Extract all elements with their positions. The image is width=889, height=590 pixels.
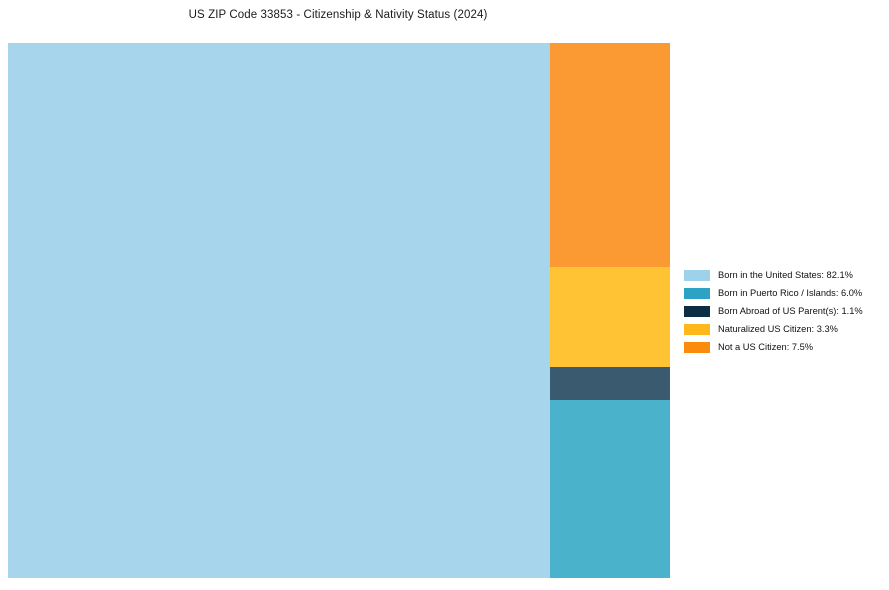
- legend-item-naturalized-us-citizen[interactable]: Naturalized US Citizen: 3.3%: [684, 320, 884, 338]
- legend-item-born-abroad-of-us-parents[interactable]: Born Abroad of US Parent(s): 1.1%: [684, 302, 884, 320]
- legend-swatch-not-a-us-citizen: [684, 342, 710, 353]
- treemap-tile-not-a-us-citizen[interactable]: [550, 43, 670, 267]
- legend-item-born-in-the-united-states[interactable]: Born in the United States: 82.1%: [684, 266, 884, 284]
- treemap-plot-area: [8, 43, 670, 578]
- treemap-tile-born-in-the-united-states[interactable]: [8, 43, 550, 578]
- legend-swatch-born-in-the-united-states: [684, 270, 710, 281]
- legend-label-born-in-the-united-states: Born in the United States: 82.1%: [718, 270, 853, 281]
- chart-title: US ZIP Code 33853 - Citizenship & Nativi…: [0, 9, 676, 21]
- legend-label-born-abroad-of-us-parents: Born Abroad of US Parent(s): 1.1%: [718, 306, 863, 317]
- legend-swatch-born-in-puerto-rico-islands: [684, 288, 710, 299]
- legend-swatch-born-abroad-of-us-parents: [684, 306, 710, 317]
- treemap-figure: US ZIP Code 33853 - Citizenship & Nativi…: [0, 0, 889, 590]
- legend-label-not-a-us-citizen: Not a US Citizen: 7.5%: [718, 342, 813, 353]
- treemap-tile-born-abroad-of-us-parents[interactable]: [550, 367, 670, 400]
- legend-label-born-in-puerto-rico-islands: Born in Puerto Rico / Islands: 6.0%: [718, 288, 862, 299]
- legend-label-naturalized-us-citizen: Naturalized US Citizen: 3.3%: [718, 324, 838, 335]
- treemap-tile-naturalized-us-citizen[interactable]: [550, 267, 670, 367]
- legend-item-born-in-puerto-rico-islands[interactable]: Born in Puerto Rico / Islands: 6.0%: [684, 284, 884, 302]
- legend-swatch-naturalized-us-citizen: [684, 324, 710, 335]
- chart-legend: Born in the United States: 82.1% Born in…: [684, 266, 884, 356]
- treemap-tile-born-in-puerto-rico-islands[interactable]: [550, 400, 670, 578]
- legend-item-not-a-us-citizen[interactable]: Not a US Citizen: 7.5%: [684, 338, 884, 356]
